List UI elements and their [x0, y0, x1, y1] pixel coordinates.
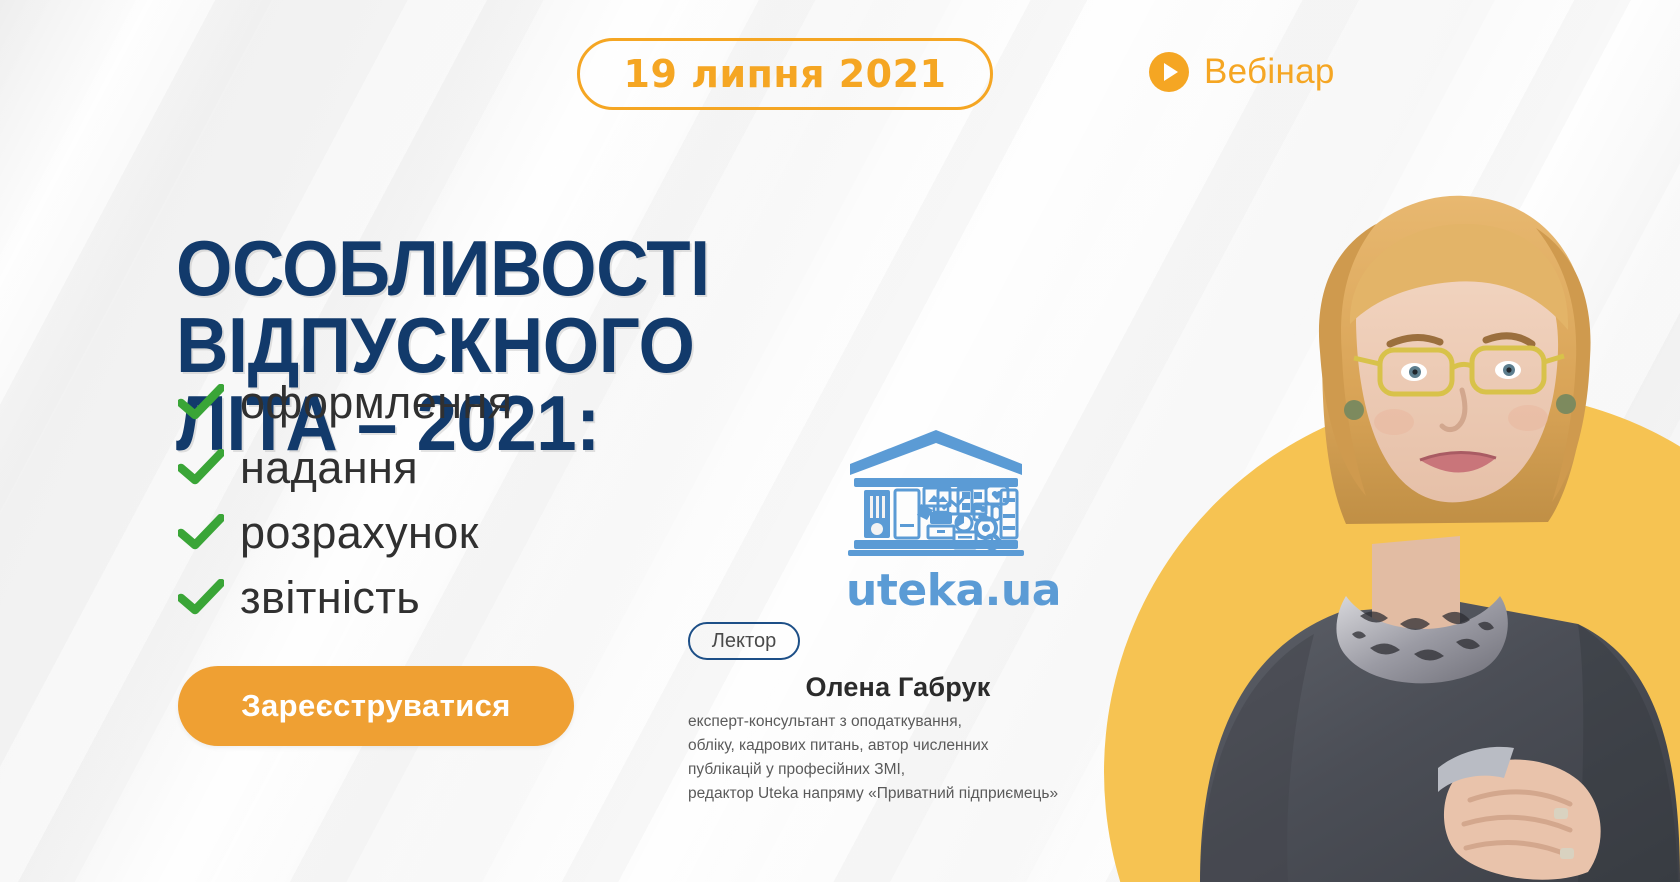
archive-building-icon — [846, 543, 1026, 560]
check-icon — [178, 449, 240, 487]
lecturer-description-line: публікацій у професійних ЗМІ, — [688, 758, 1108, 782]
webinar-format-label: Вебінар — [1204, 52, 1335, 92]
lecturer-badge: Лектор — [688, 622, 800, 660]
check-icon — [178, 579, 240, 617]
uteka-wordmark: uteka.ua — [846, 565, 1026, 616]
register-button-label: Зареєструватися — [241, 688, 511, 724]
lecturer-description: експерт-консультант з оподаткування, обл… — [688, 710, 1108, 806]
list-item-label: оформлення — [240, 377, 512, 429]
register-button[interactable]: Зареєструватися — [178, 666, 574, 746]
topic-list: оформлення надання розрахунок — [178, 370, 512, 630]
list-item-label: розрахунок — [240, 507, 479, 559]
date-badge[interactable]: 19 липня 2021 — [577, 38, 993, 110]
play-circle-icon — [1149, 52, 1189, 92]
play-triangle-icon — [1164, 63, 1178, 81]
check-icon — [178, 514, 240, 552]
lecturer-photo — [1108, 172, 1680, 882]
list-item: надання — [178, 435, 512, 500]
title-line-1: ОСОБЛИВОСТІ ВІДПУСКНОГО — [176, 224, 710, 389]
list-item: розрахунок — [178, 500, 512, 565]
lecturer-badge-label: Лектор — [712, 630, 776, 653]
date-badge-label: 19 липня 2021 — [624, 52, 947, 96]
lecturer-description-line: обліку, кадрових питань, автор численних — [688, 734, 1108, 758]
lecturer-description-line: редактор Uteka напряму «Приватний підпри… — [688, 782, 1108, 806]
check-icon — [178, 384, 240, 422]
list-item-label: звітність — [240, 572, 420, 624]
webinar-banner: 19 липня 2021 Вебінар ОСОБЛИВОСТІ ВІДПУС… — [0, 0, 1680, 882]
webinar-format-tag: Вебінар — [1149, 52, 1335, 92]
list-item-label: надання — [240, 442, 418, 494]
list-item: оформлення — [178, 370, 512, 435]
lecturer-description-line: експерт-консультант з оподаткування, — [688, 710, 1108, 734]
uteka-logo[interactable]: uteka.ua — [846, 428, 1026, 616]
lecturer-name: Олена Габрук — [688, 672, 1108, 703]
list-item: звітність — [178, 565, 512, 630]
